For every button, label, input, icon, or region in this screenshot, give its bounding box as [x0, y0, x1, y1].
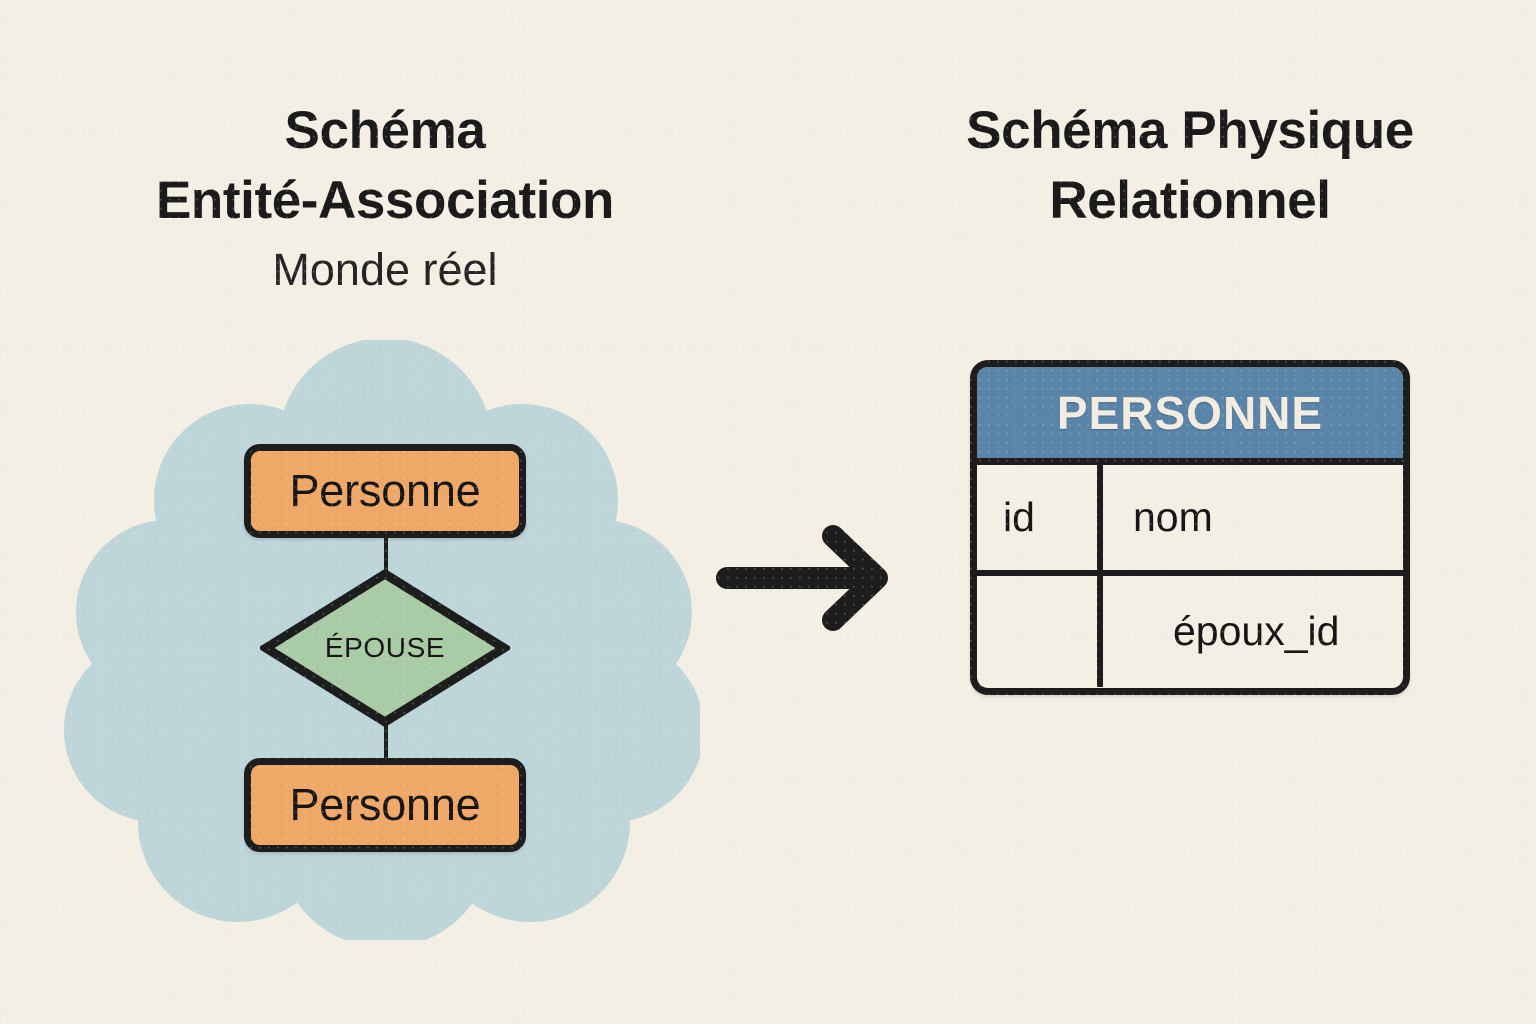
table-cell-key [977, 576, 1103, 687]
entity-label: Personne [289, 465, 480, 517]
right-title-line-2: Relationnel [840, 166, 1536, 236]
left-title-line-2: Entité-Association [40, 166, 730, 236]
connector-bottom [384, 720, 388, 760]
entity-personne-bottom[interactable]: Personne [244, 758, 526, 852]
table-name-label: PERSONNE [1057, 386, 1323, 440]
right-panel-heading: Schéma Physique Relationnel [840, 96, 1536, 236]
left-subtitle: Monde réel [40, 240, 730, 299]
relationship-epouse[interactable]: ÉPOUSE [260, 568, 510, 728]
entity-association-diagram: Personne ÉPOUSE Personne [60, 340, 700, 940]
table-cell-value: nom [1103, 465, 1403, 570]
entity-personne-top[interactable]: Personne [244, 444, 526, 538]
relationship-label: ÉPOUSE [260, 568, 510, 728]
table-row: id nom [977, 465, 1403, 576]
left-panel-heading: Schéma Entité-Association Monde réel [40, 96, 730, 299]
right-title-line-1: Schéma Physique [840, 96, 1536, 166]
table-cell-value: époux_id [1103, 576, 1403, 687]
table-row: époux_id [977, 576, 1403, 687]
table-cell-key: id [977, 465, 1103, 570]
table-header: PERSONNE [977, 367, 1403, 465]
transform-arrow-icon [705, 520, 905, 640]
relational-table-personne[interactable]: PERSONNE id nom époux_id [970, 360, 1410, 695]
entity-label: Personne [289, 779, 480, 831]
left-title-line-1: Schéma [40, 96, 730, 166]
